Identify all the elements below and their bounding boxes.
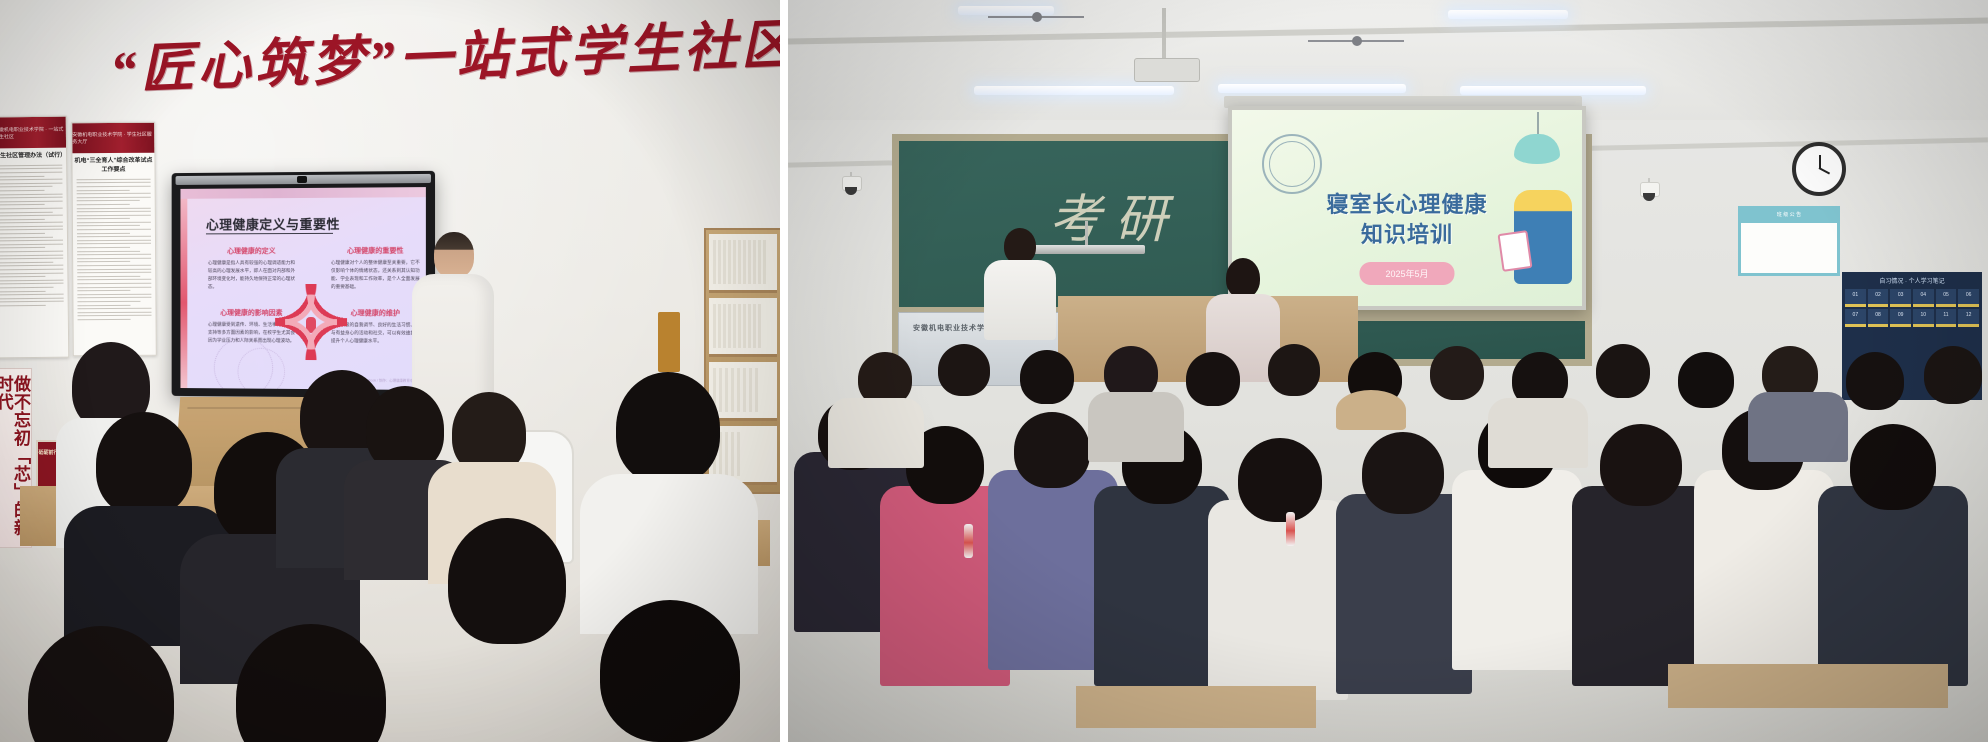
- class-notice-board-title: 班 级 公 告: [1741, 211, 1837, 218]
- shelf-row: [709, 298, 777, 357]
- slide-top-band: [180, 187, 425, 199]
- podium-label: 安徽机电职业技术学院: [913, 323, 993, 333]
- camera-dome: [845, 187, 857, 195]
- seat-cell: 12: [1958, 309, 1979, 327]
- slide-column-2-heading: 心理健康的重要性: [331, 246, 420, 256]
- panel-divider: [780, 0, 788, 742]
- shelf-row: [709, 234, 777, 293]
- class-notice-board: 班 级 公 告: [1738, 206, 1840, 276]
- presenter-right-figure: [1206, 258, 1280, 378]
- right-photo-panel: 考研 寝室长心理健康 知识培训 2025年5月 安徽机电职业技术学院: [788, 0, 1988, 742]
- audience-head: [96, 412, 192, 516]
- slide-left-band: [180, 199, 187, 388]
- security-camera-icon: [1638, 178, 1660, 204]
- illustration-notepad: [1498, 230, 1533, 272]
- seat-cell: 04: [1913, 289, 1934, 307]
- notice-board-2: 安徽机电职业技术学院 · 学生社区服务大厅 机电“三全育人”综合改革试点工作要点: [71, 122, 157, 357]
- audience-head: [600, 600, 740, 742]
- presenter-left-head: [1004, 228, 1036, 264]
- seat-cell: 08: [1868, 309, 1889, 327]
- projector: [1134, 58, 1200, 82]
- panel-camera-icon: [297, 176, 307, 183]
- floor-stand-object: [658, 312, 680, 372]
- notice-board-1-title: 学生社区管理办法（试行）: [0, 148, 66, 161]
- seat-cell: 01: [1845, 289, 1866, 307]
- slide-column-1-heading: 心理健康的定义: [208, 246, 295, 256]
- slide-diamond-logo-icon: [275, 284, 347, 360]
- security-camera-icon: [840, 172, 862, 198]
- wall-clock-icon: [1792, 142, 1846, 196]
- presenter-right-body: [1206, 294, 1280, 382]
- seat-number-board: 自习情况 · 个人学习笔记 01 02 03 04 05 06 07 08 09…: [1842, 272, 1982, 400]
- ceiling-light: [1218, 84, 1406, 93]
- interactive-flat-panel[interactable]: 心理健康定义与重要性 心理健康的定义 心理健康是指人具有较强的心理调适能力和较高…: [172, 171, 435, 398]
- seat-cell: 05: [1936, 289, 1957, 307]
- university-seal-icon: [1262, 134, 1322, 194]
- seat-cell: 02: [1868, 289, 1889, 307]
- seat-cell: 10: [1913, 309, 1934, 327]
- left-photo-panel: “匠心筑梦”一站式学生社区欢迎您！ 安徽机电职业技术学院 · 一站式学生社区 学…: [0, 0, 780, 742]
- projector-mount: [1162, 8, 1166, 60]
- ceiling-light: [1448, 10, 1568, 19]
- ceiling-light: [974, 86, 1174, 95]
- audience-head: [616, 372, 720, 484]
- projected-date-badge: 2025年5月: [1359, 262, 1454, 285]
- panel-screen[interactable]: 心理健康定义与重要性 心理健康的定义 心理健康是指人具有较强的心理调适能力和较高…: [180, 187, 425, 390]
- audience-head: [448, 518, 566, 644]
- camera-dome: [1643, 193, 1655, 201]
- notice-board-1-body: [0, 160, 68, 311]
- photo-composite: “匠心筑梦”一站式学生社区欢迎您！ 安徽机电职业技术学院 · 一站式学生社区 学…: [0, 0, 1988, 742]
- slide-title: 心理健康定义与重要性: [206, 214, 340, 234]
- slide-title-underline: [206, 233, 333, 235]
- notice-board-1: 安徽机电职业技术学院 · 一站式学生社区 学生社区管理办法（试行）: [0, 116, 69, 359]
- notice-board-2-title: 机电“三全育人”综合改革试点工作要点: [72, 153, 154, 175]
- projected-title-line1: 寝室长心理健康: [1326, 192, 1487, 217]
- seat-cell: 03: [1890, 289, 1911, 307]
- notice-board-1-header: 安徽机电职业技术学院 · 一站式学生社区: [0, 117, 66, 149]
- presenter-head: [434, 232, 474, 278]
- seat-cell: 07: [1845, 309, 1866, 327]
- lamp-icon: [1514, 134, 1560, 164]
- seat-board-title: 自习情况 · 个人学习笔记: [1845, 275, 1979, 289]
- projected-title-line2: 知识培训: [1361, 222, 1453, 247]
- seat-cell: 11: [1936, 309, 1957, 327]
- presenter-left-figure: [984, 228, 1056, 338]
- ceiling-fan-icon: [988, 12, 1084, 22]
- seat-cell: 09: [1890, 309, 1911, 327]
- presenter-left-body: [984, 260, 1056, 340]
- seat-cell: 06: [1958, 289, 1979, 307]
- projection-screen: 寝室长心理健康 知识培训 2025年5月: [1228, 106, 1586, 310]
- projected-illustration: [1488, 134, 1574, 284]
- seat-board-cells: 01 02 03 04 05 06 07 08 09 10 11 12: [1845, 289, 1979, 327]
- blackboard-chalk-text: 考研: [1049, 177, 1181, 252]
- shelf-row: [709, 362, 777, 421]
- notice-board-2-header: 安徽机电职业技术学院 · 学生社区服务大厅: [72, 123, 154, 154]
- slide-diamond-core: [306, 317, 316, 333]
- presenter-right-head: [1226, 258, 1260, 298]
- ceiling-fan-icon: [1308, 36, 1404, 46]
- notice-board-2-body: [73, 174, 156, 325]
- ceiling-light: [1460, 86, 1646, 95]
